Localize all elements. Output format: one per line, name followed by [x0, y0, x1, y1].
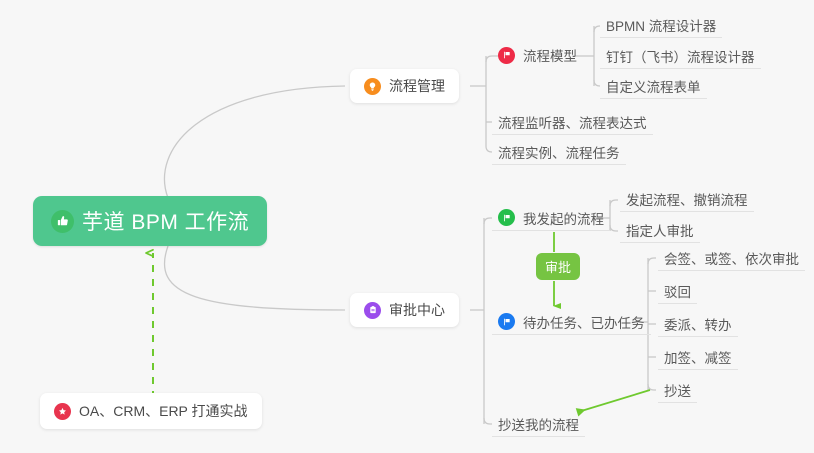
- mindmap-canvas: 芋道 BPM 工作流 流程管理 流程模型 BPMN 流程设计器 钉钉（飞书）流程…: [0, 0, 814, 453]
- node-listener-expression-label: 流程监听器、流程表达式: [498, 112, 647, 132]
- edge-ac-to-initiated: [484, 218, 492, 224]
- flag-icon: [498, 47, 515, 64]
- node-cc[interactable]: 抄送: [658, 377, 697, 403]
- node-process-model[interactable]: 流程模型: [492, 42, 583, 68]
- node-reject[interactable]: 驳回: [658, 278, 697, 304]
- branch-process-management[interactable]: 流程管理: [350, 69, 459, 103]
- node-assignee-approval-label: 指定人审批: [626, 220, 694, 240]
- edge-initiated-bottom: [610, 225, 618, 231]
- node-bpmn-designer-label: BPMN 流程设计器: [606, 15, 716, 35]
- root-node[interactable]: 芋道 BPM 工作流: [33, 196, 267, 246]
- flag-icon: [498, 209, 515, 226]
- node-custom-process-form[interactable]: 自定义流程表单: [600, 73, 707, 99]
- thumbs-up-icon: [51, 210, 74, 233]
- node-dingtalk-feishu-designer[interactable]: 钉钉（飞书）流程设计器: [600, 43, 761, 69]
- node-add-remove-sign-label: 加签、减签: [664, 347, 732, 367]
- lightbulb-pin-icon: [364, 78, 381, 95]
- node-instance-task[interactable]: 流程实例、流程任务: [492, 139, 626, 165]
- node-my-initiated-process-label: 我发起的流程: [523, 208, 604, 228]
- edge-todo-bottom: [648, 384, 656, 390]
- node-reject-label: 驳回: [664, 281, 691, 301]
- node-cc-to-me-process-label: 抄送我的流程: [498, 414, 579, 434]
- flag-icon: [498, 313, 515, 330]
- free-node-oa-crm-erp-label: OA、CRM、ERP 打通实战: [79, 401, 248, 421]
- node-delegate-transfer[interactable]: 委派、转办: [658, 311, 738, 337]
- node-todo-done-tasks[interactable]: 待办任务、已办任务: [492, 309, 651, 335]
- node-start-cancel-process-label: 发起流程、撤销流程: [626, 189, 748, 209]
- node-custom-process-form-label: 自定义流程表单: [606, 76, 701, 96]
- node-cc-to-me-process[interactable]: 抄送我的流程: [492, 411, 585, 437]
- edge-pm-spine: [480, 56, 486, 146]
- approval-badge-label: 审批: [545, 257, 571, 276]
- arrow-cc-to-ccme: [578, 390, 650, 412]
- root-node-label: 芋道 BPM 工作流: [82, 206, 249, 236]
- node-add-remove-sign[interactable]: 加签、减签: [658, 344, 738, 370]
- clipboard-icon: [364, 302, 381, 319]
- node-todo-done-tasks-label: 待办任务、已办任务: [523, 312, 645, 332]
- branch-process-management-label: 流程管理: [389, 76, 445, 96]
- node-listener-expression[interactable]: 流程监听器、流程表达式: [492, 109, 653, 135]
- node-instance-task-label: 流程实例、流程任务: [498, 142, 620, 162]
- node-countersign[interactable]: 会签、或签、依次审批: [658, 245, 805, 271]
- node-my-initiated-process[interactable]: 我发起的流程: [492, 205, 610, 231]
- edge-initiated-top: [610, 200, 618, 206]
- node-bpmn-designer[interactable]: BPMN 流程设计器: [600, 12, 722, 38]
- edge-ac-to-ccme: [484, 418, 492, 424]
- edge-todo-top: [648, 258, 656, 264]
- star-icon: [54, 403, 71, 420]
- node-process-model-label: 流程模型: [523, 45, 577, 65]
- edge-root-to-process-management: [164, 86, 345, 198]
- node-dingtalk-feishu-designer-label: 钉钉（飞书）流程设计器: [606, 46, 755, 66]
- node-delegate-transfer-label: 委派、转办: [664, 314, 732, 334]
- free-node-oa-crm-erp[interactable]: OA、CRM、ERP 打通实战: [40, 393, 262, 429]
- branch-approval-center[interactable]: 审批中心: [350, 293, 459, 327]
- node-assignee-approval[interactable]: 指定人审批: [620, 217, 700, 243]
- edge-root-to-approval-center: [164, 246, 345, 310]
- branch-approval-center-label: 审批中心: [389, 300, 445, 320]
- node-cc-label: 抄送: [664, 380, 691, 400]
- approval-badge[interactable]: 审批: [536, 253, 580, 280]
- node-start-cancel-process[interactable]: 发起流程、撤销流程: [620, 186, 754, 212]
- node-countersign-label: 会签、或签、依次审批: [664, 248, 799, 268]
